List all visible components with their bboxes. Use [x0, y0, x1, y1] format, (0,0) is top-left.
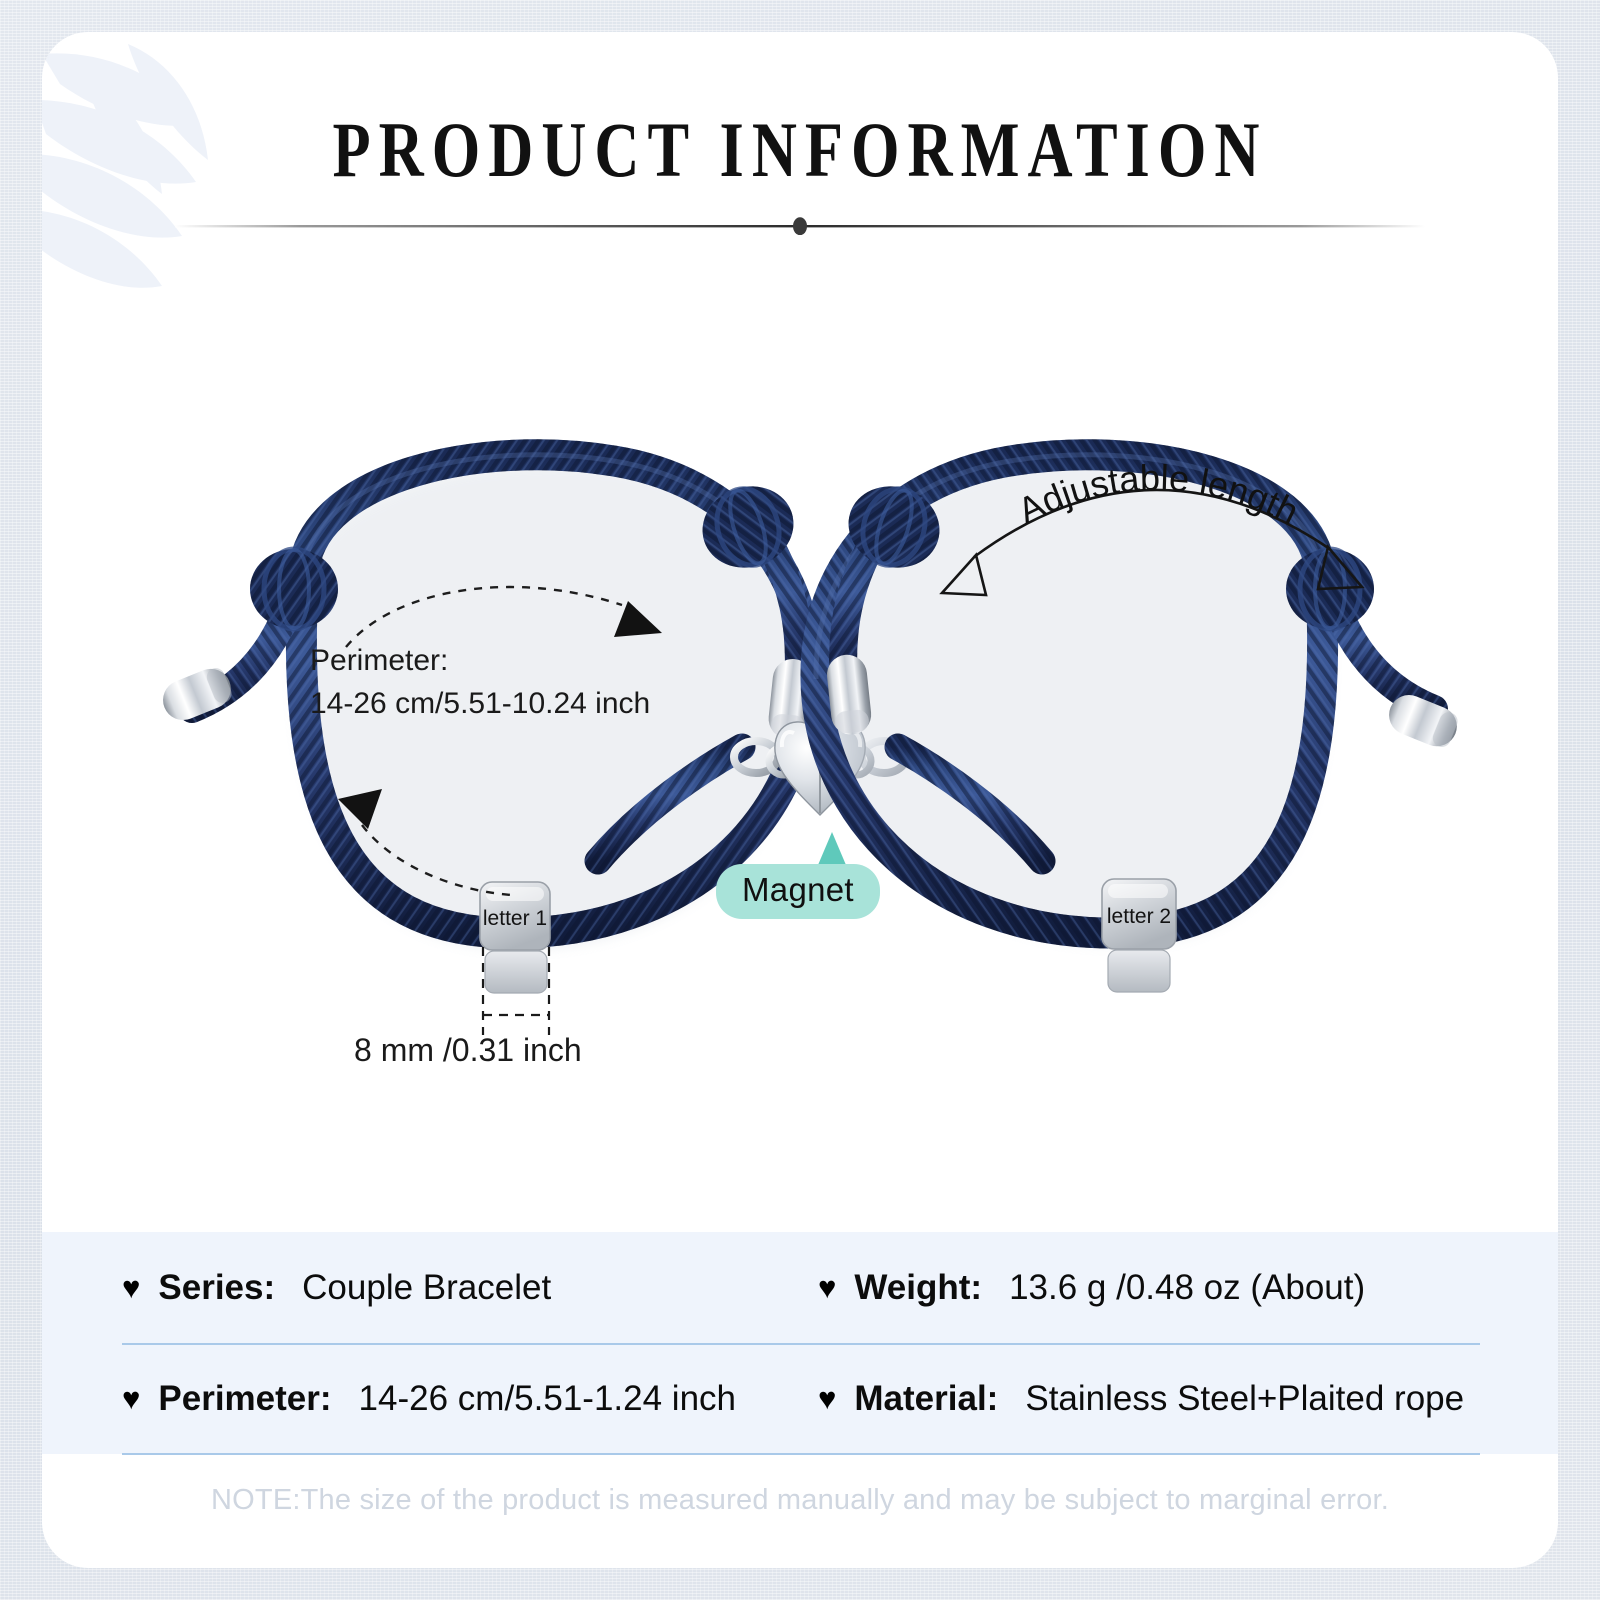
right-bead-letter-2: letter 2 — [1102, 879, 1176, 992]
spec-value-material: Stainless Steel+Plaited rope — [1025, 1379, 1464, 1419]
left-bead-letter-1: letter 1 — [480, 882, 550, 993]
spec-value-weight: 13.6 g /0.48 oz (About) — [1009, 1268, 1365, 1308]
product-info-card: PRODUCT INFORMATION — [42, 32, 1558, 1568]
page-title: PRODUCT INFORMATION — [194, 110, 1407, 190]
spec-row-material: ♥ Material: Stainless Steel+Plaited rope — [800, 1343, 1496, 1454]
spec-row-weight: ♥ Weight: 13.6 g /0.48 oz (About) — [800, 1232, 1496, 1343]
spec-value-series: Couple Bracelet — [302, 1268, 551, 1308]
spec-row-divider-2 — [122, 1453, 1480, 1455]
spec-row-perimeter: ♥ Perimeter: 14-26 cm/5.51-1.24 inch — [104, 1343, 800, 1454]
disclaimer-note: NOTE:The size of the product is measured… — [42, 1484, 1558, 1517]
bead-size-label: 8 mm /0.31 inch — [354, 1028, 582, 1073]
magnet-pointer-icon — [818, 832, 846, 865]
magnet-badge: Magnet — [716, 864, 880, 919]
perimeter-annotation: Perimeter: 14-26 cm/5.51-10.24 inch — [310, 640, 650, 725]
heart-icon: ♥ — [818, 1272, 836, 1303]
spec-value-perimeter: 14-26 cm/5.51-1.24 inch — [359, 1379, 736, 1419]
perimeter-annotation-label: Perimeter: — [310, 640, 650, 683]
left-bead-label: letter 1 — [483, 907, 547, 930]
right-bracelet: letter 2 Adjustable length — [816, 455, 1463, 992]
spec-row-series: ♥ Series: Couple Bracelet — [104, 1232, 800, 1343]
spec-key-perimeter: Perimeter: — [158, 1379, 331, 1419]
right-bead-label: letter 2 — [1107, 905, 1171, 928]
title-divider — [175, 217, 1425, 235]
specifications-panel: ♥ Series: Couple Bracelet ♥ Weight: 13.6… — [42, 1232, 1558, 1454]
left-bracelet: letter 1 — [157, 455, 815, 1035]
heart-icon: ♥ — [818, 1383, 836, 1414]
heart-icon: ♥ — [122, 1272, 140, 1303]
spec-key-weight: Weight: — [854, 1268, 982, 1308]
spec-key-material: Material: — [854, 1379, 998, 1419]
heart-icon: ♥ — [122, 1383, 140, 1414]
spec-key-series: Series: — [158, 1268, 275, 1308]
perimeter-annotation-value: 14-26 cm/5.51-10.24 inch — [310, 683, 650, 726]
spec-row-divider-1 — [122, 1343, 1480, 1345]
page-title-wrap: PRODUCT INFORMATION — [42, 110, 1558, 190]
bracelet-illustration: letter 1 — [42, 417, 1558, 1137]
left-bracelet-knot-left — [250, 549, 338, 629]
